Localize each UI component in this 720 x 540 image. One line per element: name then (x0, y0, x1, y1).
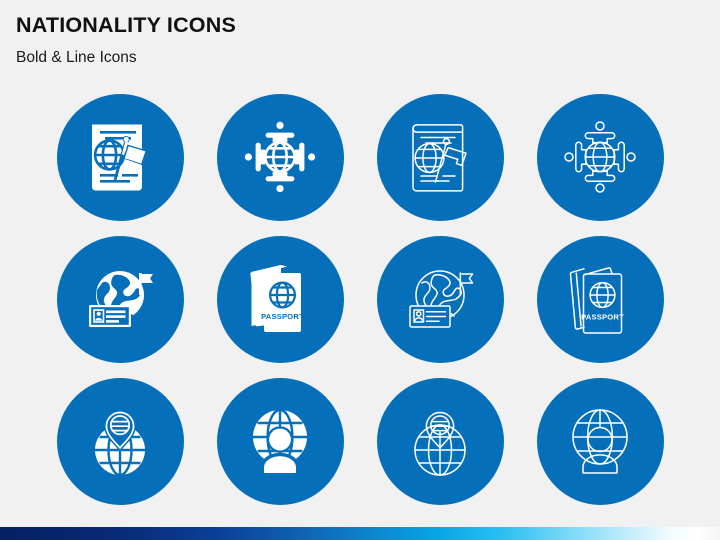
icon-cell (520, 370, 680, 512)
icon-cell (360, 370, 520, 512)
page-subtitle: Bold & Line Icons (16, 38, 696, 66)
icon-globe-four-people-bold[interactable] (217, 94, 344, 221)
icon-cell (360, 86, 520, 228)
icon-cell (520, 86, 680, 228)
passport-label: PASSPORT (581, 313, 624, 322)
icon-cell (200, 370, 360, 512)
header: NATIONALITY ICONS Bold & Line Icons (16, 14, 696, 66)
icon-cell: PASSPORT (520, 228, 680, 370)
icon-globe-four-people-line[interactable] (537, 94, 664, 221)
icon-cell (360, 228, 520, 370)
icon-passport-booklet-bold[interactable]: PASSPORT (217, 236, 344, 363)
icon-cell (40, 86, 200, 228)
icon-globe-person-avatar-bold[interactable] (217, 378, 344, 505)
icon-cell (200, 86, 360, 228)
icon-passport-document-globe-flag-line[interactable] (377, 94, 504, 221)
bottom-accent-bar (0, 527, 720, 540)
icon-cell: PASSPORT (200, 228, 360, 370)
icon-grid: PASSPORT (0, 86, 720, 512)
icon-globe-person-pin-bold[interactable] (57, 378, 184, 505)
page-title: NATIONALITY ICONS (16, 14, 696, 38)
icon-globe-person-avatar-line[interactable] (537, 378, 664, 505)
icon-cell (40, 228, 200, 370)
icon-globe-person-pin-line[interactable] (377, 378, 504, 505)
icon-globe-flag-id-card-line[interactable] (377, 236, 504, 363)
slide-canvas: NATIONALITY ICONS Bold & Line Icons (0, 0, 720, 540)
icon-globe-flag-id-card-bold[interactable] (57, 236, 184, 363)
icon-cell (40, 370, 200, 512)
icon-passport-booklet-line[interactable]: PASSPORT (537, 236, 664, 363)
passport-label: PASSPORT (261, 312, 304, 321)
icon-passport-document-globe-flag-bold[interactable] (57, 94, 184, 221)
